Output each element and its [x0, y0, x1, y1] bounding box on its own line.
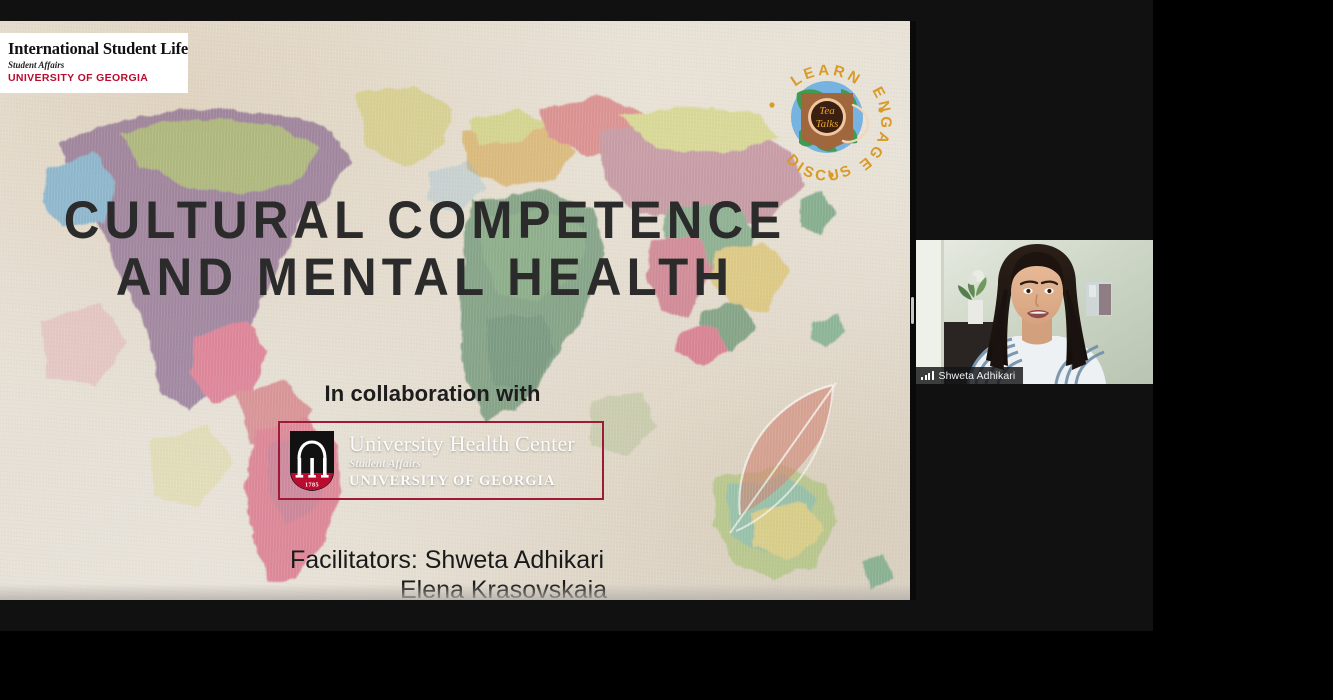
participant-video-tile[interactable]: Shweta Adhikari — [916, 240, 1153, 384]
collaboration-label: In collaboration with — [0, 381, 865, 407]
facilitators-line-1: Facilitators: Shweta Adhikari — [290, 546, 604, 574]
uga-shield-year: 1785 — [305, 481, 319, 488]
tea-talks-emblem: Tea Talks LEARN ENGAGE DISCUSS — [757, 47, 897, 187]
participant-webcam-feed — [916, 240, 1153, 384]
shared-slide-content[interactable]: International Student Life Student Affai… — [0, 21, 910, 600]
isl-logo-unit: Student Affairs — [8, 59, 188, 71]
slide-title-line-2: AND MENTAL HEALTH — [30, 250, 821, 307]
uga-arch-shield-icon: 1785 — [288, 429, 336, 493]
emblem-center-text-line2: Talks — [816, 118, 839, 130]
backdrop-right — [1153, 0, 1333, 700]
participant-name: Shweta Adhikari — [939, 370, 1016, 382]
divider-drag-handle[interactable] — [911, 297, 914, 324]
slide-title: CULTURAL COMPETENCE AND MENTAL HEALTH — [30, 193, 821, 306]
international-student-life-logo: International Student Life Student Affai… — [0, 33, 188, 93]
isl-logo-institution: UNIVERSITY OF GEORGIA — [8, 72, 188, 86]
slide-title-line-1: CULTURAL COMPETENCE — [30, 193, 821, 250]
uhc-unit: Student Affairs — [349, 459, 575, 471]
uhc-institution: UNIVERSITY OF GEORGIA — [349, 474, 575, 489]
uhc-name: University Health Center — [349, 433, 575, 455]
emblem-center-text-line1: Tea — [819, 105, 835, 117]
university-health-center-logo-box: 1785 University Health Center Student Af… — [278, 421, 604, 500]
signal-bars-icon — [921, 371, 934, 380]
isl-logo-title: International Student Life — [8, 40, 188, 57]
slide-bottom-shadow — [0, 584, 910, 600]
meeting-window: International Student Life Student Affai… — [0, 0, 1153, 631]
backdrop-bottom — [0, 631, 1153, 700]
participant-nameplate: Shweta Adhikari — [916, 367, 1023, 384]
university-health-center-wordmark: University Health Center Student Affairs… — [349, 433, 575, 489]
